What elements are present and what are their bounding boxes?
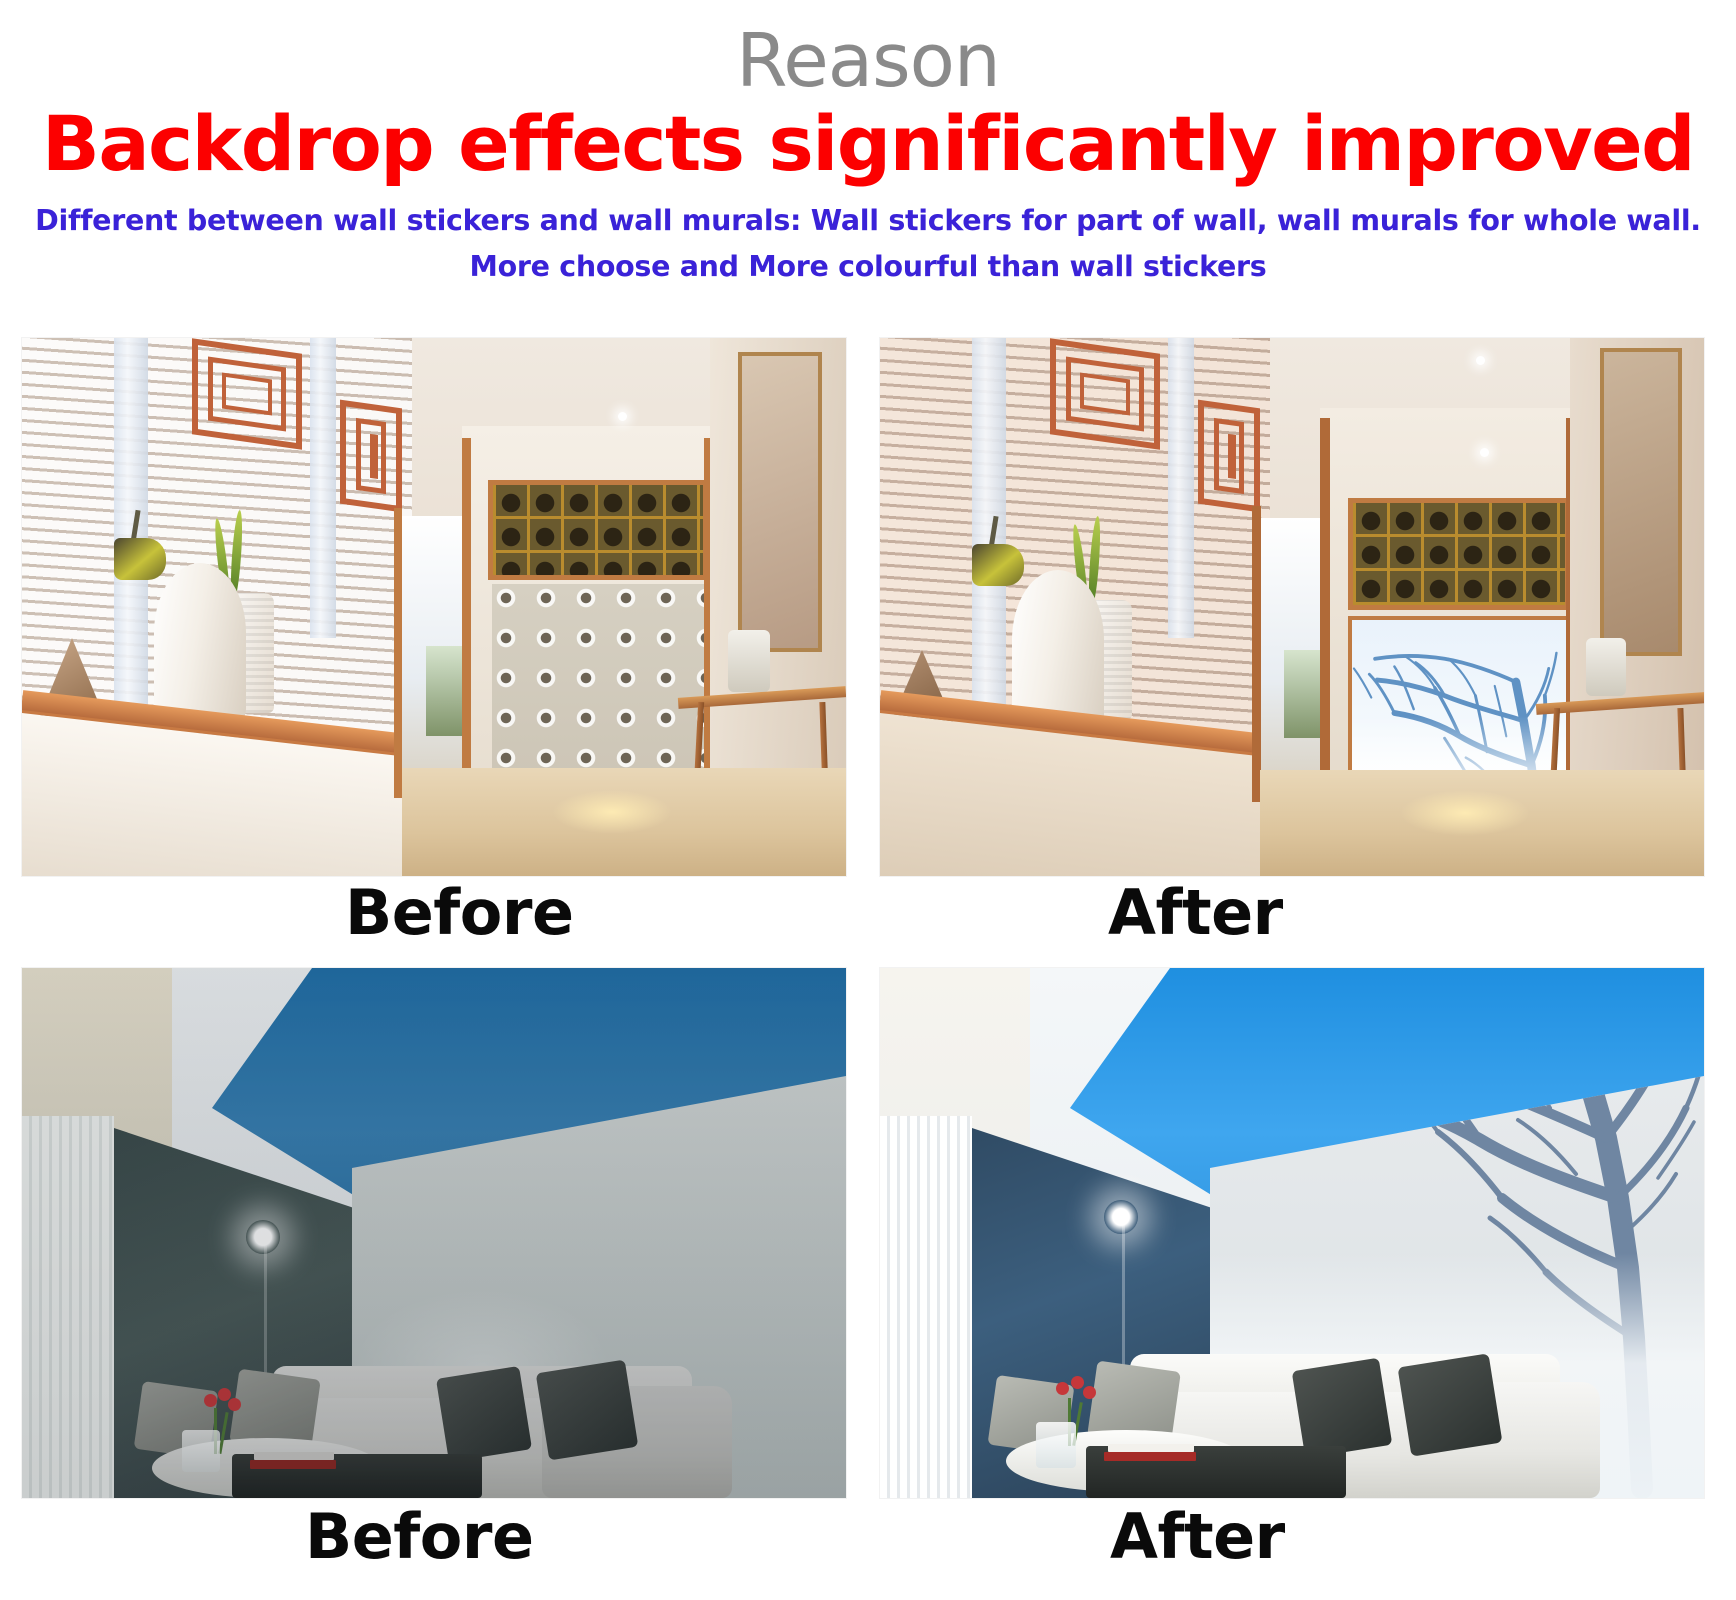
photo-livingroom-before bbox=[22, 968, 846, 1498]
promo-banner: Reason Backdrop effects significantly im… bbox=[0, 0, 1736, 1600]
wall-art bbox=[738, 352, 822, 652]
lattice-decor-large bbox=[1050, 338, 1160, 449]
book-white bbox=[1108, 1444, 1194, 1452]
lattice-decor-small bbox=[1198, 400, 1260, 513]
cushion-dark-a bbox=[1292, 1358, 1393, 1459]
caption-hallway-after: After bbox=[1108, 882, 1283, 944]
ceiling-downlight-a bbox=[1476, 356, 1485, 365]
glass-vase bbox=[1036, 1422, 1076, 1468]
lattice-decor-small bbox=[340, 400, 402, 513]
caption-hallway-before: Before bbox=[345, 882, 574, 944]
eyebrow-heading: Reason bbox=[0, 24, 1736, 98]
ceramic-object bbox=[728, 630, 770, 692]
floor-spotlight bbox=[1400, 790, 1530, 836]
floor-spotlight bbox=[552, 790, 672, 834]
caption-livingroom-after: After bbox=[1110, 1506, 1285, 1568]
wall-pillar-2 bbox=[1168, 338, 1194, 638]
door-frame-left bbox=[1252, 506, 1261, 802]
radiator-panel bbox=[880, 1116, 972, 1498]
book-red bbox=[1104, 1452, 1196, 1461]
wall-art bbox=[1600, 348, 1682, 656]
wall-lamp bbox=[972, 544, 1024, 586]
ceiling-downlight-b bbox=[1480, 448, 1489, 457]
subtitle-line-1: Different between wall stickers and wall… bbox=[0, 204, 1736, 238]
carved-fret-panel bbox=[1348, 498, 1570, 610]
photo-hallway-after bbox=[880, 338, 1704, 876]
ceramic-object bbox=[1586, 638, 1626, 696]
ceiling-downlight bbox=[618, 412, 627, 421]
subtitle-line-2: More choose and More colourful than wall… bbox=[0, 250, 1736, 284]
cushion-dark-b bbox=[1398, 1353, 1503, 1456]
carved-fret-panel bbox=[488, 480, 708, 580]
wall-pillar-2 bbox=[310, 338, 336, 638]
ceiling-downlight bbox=[1104, 1200, 1138, 1234]
lattice-decor-large bbox=[192, 338, 302, 449]
wall-lamp bbox=[114, 538, 166, 580]
caption-livingroom-before: Before bbox=[305, 1506, 534, 1568]
door-frame-left bbox=[394, 508, 402, 798]
before-dim-overlay bbox=[22, 968, 846, 1498]
photo-livingroom-after bbox=[880, 968, 1704, 1498]
photo-hallway-before bbox=[22, 338, 846, 876]
page-title: Backdrop effects significantly improved bbox=[0, 104, 1736, 184]
